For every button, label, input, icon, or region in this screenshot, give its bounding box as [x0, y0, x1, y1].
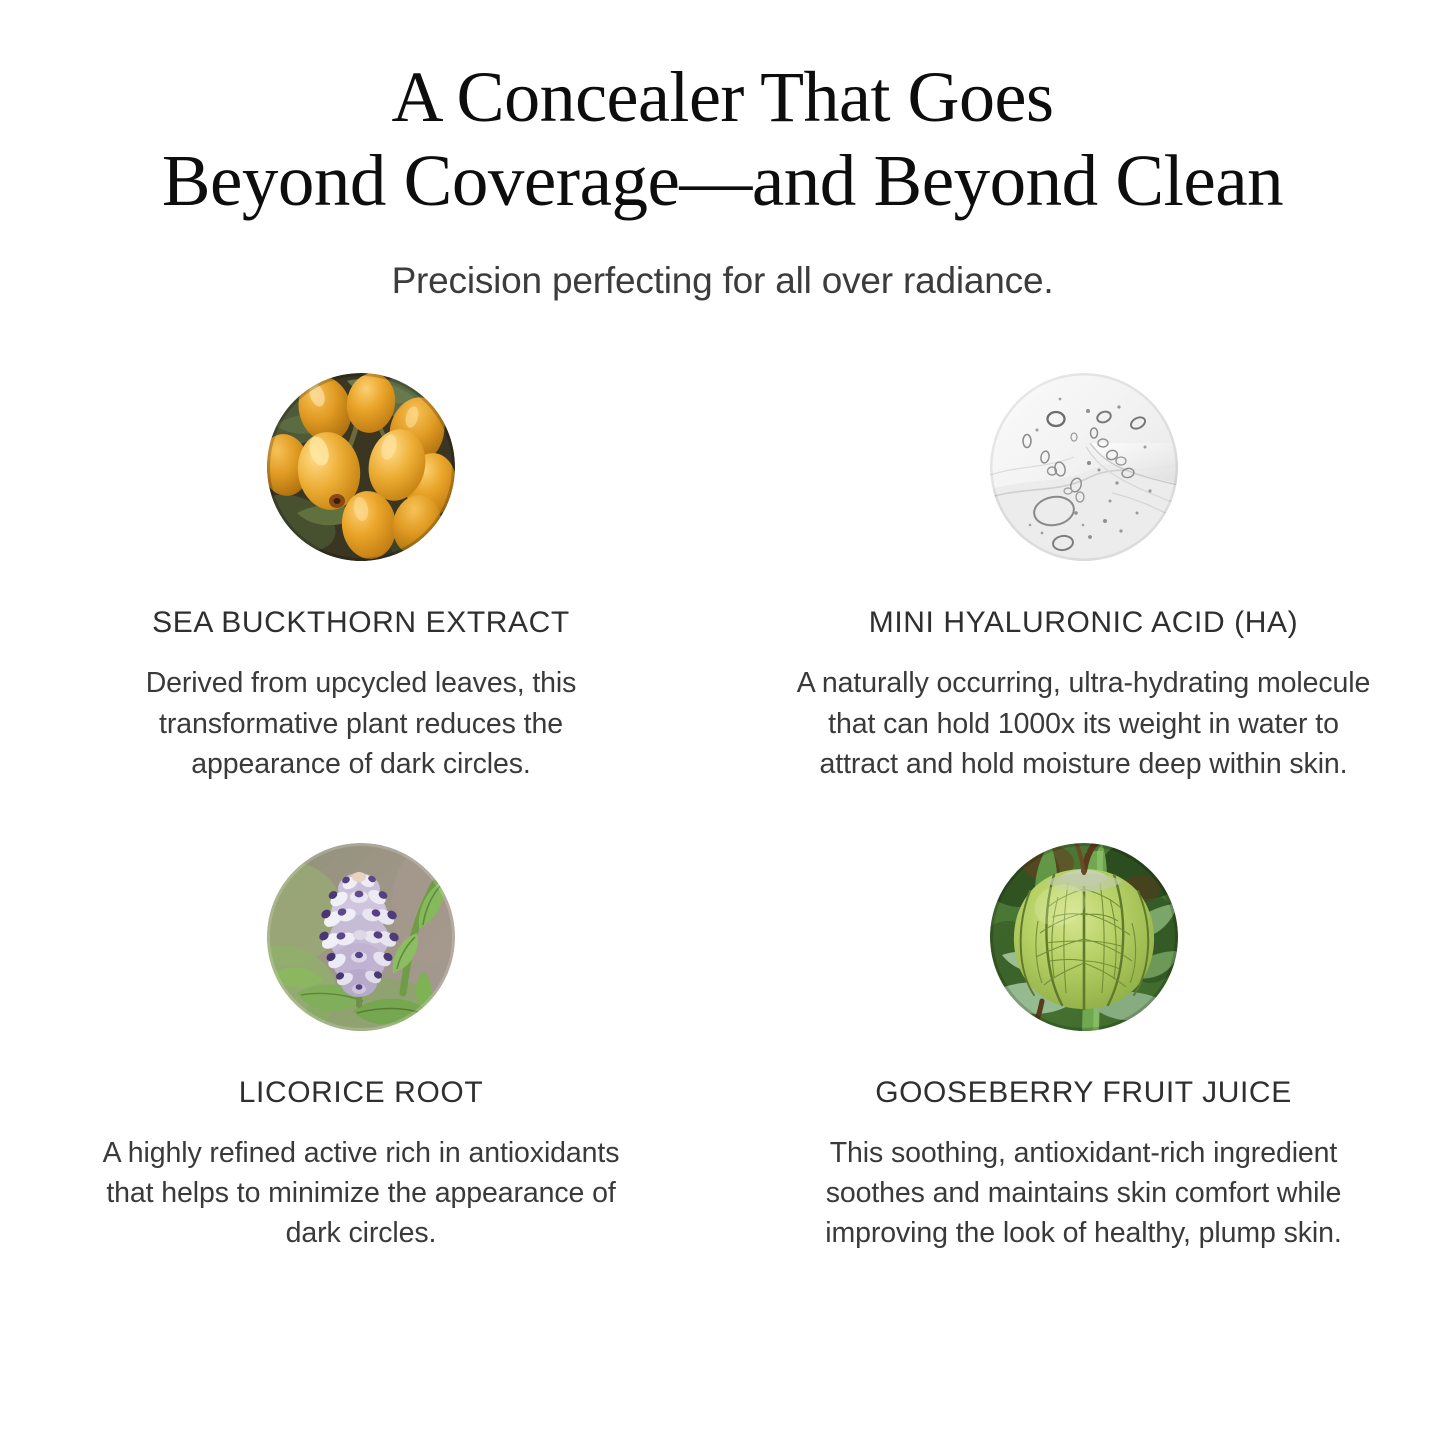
ingredient-title: MINI HYALURONIC ACID (HA)	[869, 605, 1298, 641]
ingredient-card-licorice-root: LICORICE ROOT A highly refined active ri…	[0, 843, 722, 1254]
ingredient-description: This soothing, antioxidant-rich ingredie…	[794, 1133, 1374, 1254]
page-title-line-1: A Concealer That Goes	[60, 56, 1385, 139]
ingredient-title: SEA BUCKTHORN EXTRACT	[152, 605, 570, 641]
hyaluronic-acid-gel-image	[990, 373, 1178, 561]
licorice-root-flower-image	[267, 843, 455, 1031]
sea-buckthorn-berries-image	[267, 373, 455, 561]
ingredient-card-hyaluronic-acid: MINI HYALURONIC ACID (HA) A naturally oc…	[722, 373, 1445, 784]
header: A Concealer That Goes Beyond Coverage—an…	[0, 0, 1445, 303]
ingredients-grid: SEA BUCKTHORN EXTRACT Derived from upcyc…	[0, 373, 1445, 1254]
ingredient-card-sea-buckthorn: SEA BUCKTHORN EXTRACT Derived from upcyc…	[0, 373, 722, 784]
ingredient-benefits-panel: A Concealer That Goes Beyond Coverage—an…	[0, 0, 1445, 1445]
ingredient-description: Derived from upcycled leaves, this trans…	[81, 663, 641, 784]
page-subtitle: Precision perfecting for all over radian…	[0, 259, 1445, 303]
page-title-line-2: Beyond Coverage—and Beyond Clean	[60, 139, 1385, 223]
ingredient-title: LICORICE ROOT	[239, 1075, 484, 1111]
ingredient-description: A naturally occurring, ultra-hydrating m…	[794, 663, 1374, 784]
ingredient-title: GOOSEBERRY FRUIT JUICE	[875, 1075, 1292, 1111]
page-title: A Concealer That Goes Beyond Coverage—an…	[0, 56, 1445, 223]
ingredient-card-gooseberry: GOOSEBERRY FRUIT JUICE This soothing, an…	[722, 843, 1445, 1254]
ingredient-description: A highly refined active rich in antioxid…	[81, 1133, 641, 1254]
gooseberry-fruit-image	[990, 843, 1178, 1031]
